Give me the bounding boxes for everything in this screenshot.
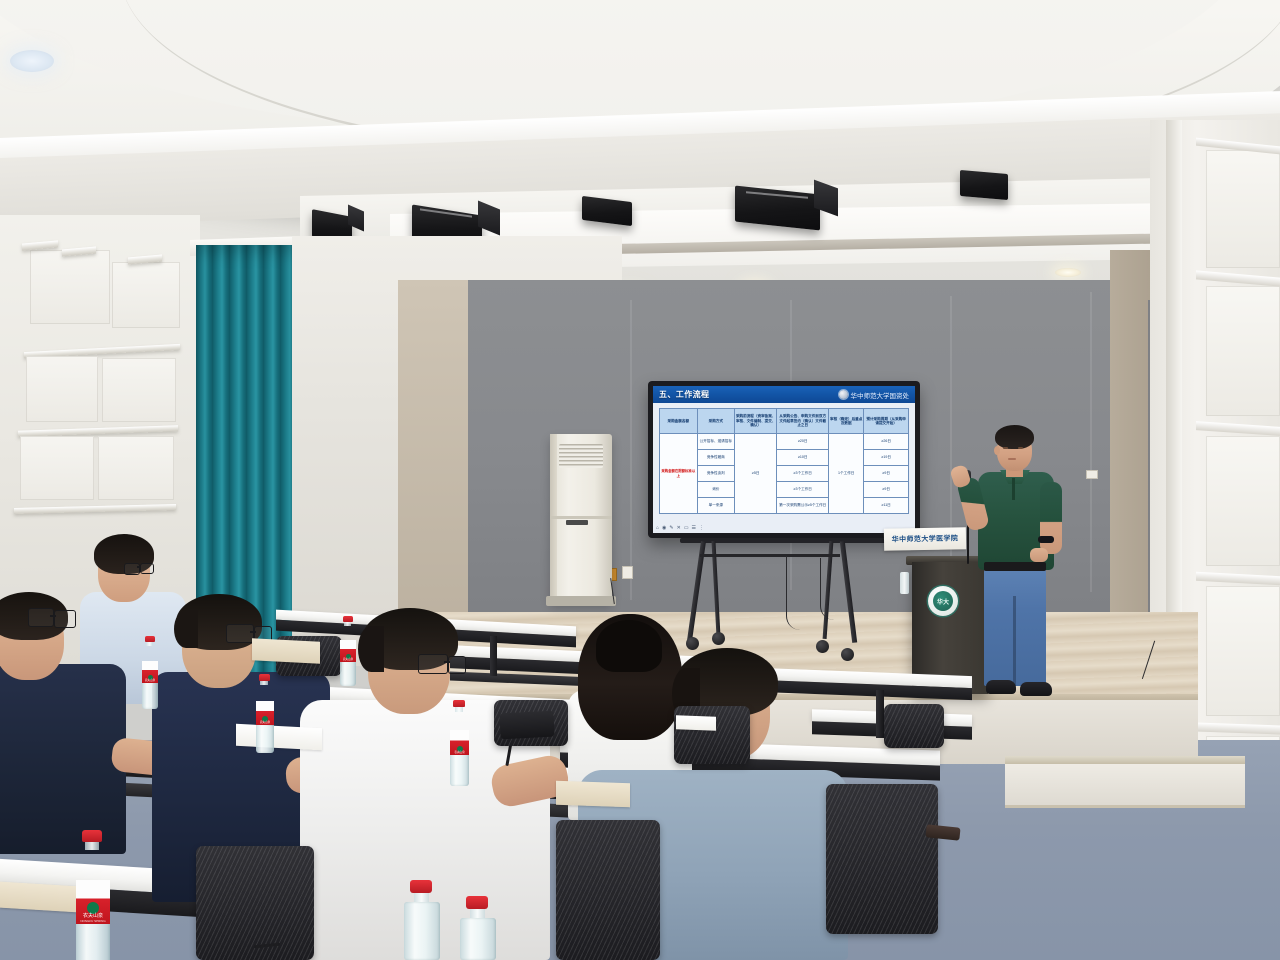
paper-sheet — [676, 715, 716, 730]
bottle-neck — [260, 681, 268, 685]
bottle-neck — [414, 893, 429, 902]
th-amount: 采购金额各额 — [660, 409, 698, 434]
glasses-bridge — [50, 615, 56, 617]
cell-span: ≥3个工作日 — [777, 466, 829, 482]
water-bottle: 农夫山泉 — [340, 616, 356, 686]
slide-title: 五、工作流程 — [659, 389, 709, 400]
wall-seam — [1090, 292, 1092, 592]
th-prestep: 采购前流程（资审备案、审核、文件编制、提交、确认） — [735, 409, 777, 434]
meeting-room-photo: 五、工作流程 华中师范大学国资处 采购金额各额 采购方式 采购前流程（资审备案、… — [0, 0, 1280, 960]
cell-span: ≥10日 — [777, 450, 829, 466]
bottle-body: 农夫山泉 — [450, 730, 469, 786]
podium-water-bottle — [900, 572, 909, 594]
bottle-neck — [470, 909, 485, 918]
bottle-label: 农夫山泉 NONGFU SPRING — [76, 880, 110, 924]
emblem-text: 华大 — [933, 591, 953, 611]
table-row: 竞争性谈判 ≥3个工作日 ≥9日 — [660, 466, 909, 482]
podium-sign: 华中师范大学医学院 — [884, 527, 966, 550]
bottle-body: 农夫山泉 NONGFU SPRING — [76, 880, 110, 960]
desk-leg — [876, 690, 884, 738]
wall-panel — [1206, 150, 1280, 268]
bottle-cap — [82, 830, 102, 842]
glasses-bridge — [444, 661, 450, 663]
slide-brand-text: 华中师范大学国资处 — [851, 390, 910, 400]
display-stand-brace — [700, 554, 840, 557]
display-stand-caster — [686, 637, 699, 650]
glasses-bridge — [137, 566, 141, 568]
wall-panel — [30, 250, 110, 324]
bottle-body: 农夫山泉 — [142, 661, 158, 709]
slide-body: 采购金额各额 采购方式 采购前流程（资审备案、审核、文件编制、提交、确认） 从采… — [653, 403, 915, 514]
presenter-placket — [1012, 478, 1015, 500]
bag — [499, 711, 554, 740]
water-bottle — [460, 896, 496, 960]
table-row: 单一来源 第一次采购需公示≥5个工作日 ≥11日 — [660, 498, 909, 514]
power-outlet[interactable] — [622, 566, 633, 579]
presenter-shoe — [1020, 682, 1052, 696]
university-emblem-icon: 华大 — [928, 586, 958, 616]
bottle-brand-text: 农夫山泉 — [145, 680, 155, 683]
chair[interactable] — [826, 784, 938, 934]
menu-icon[interactable]: ☰ — [692, 526, 696, 531]
presenter-right-arm — [1040, 482, 1062, 554]
wall-panel — [20, 436, 94, 500]
stage-step-nosing — [1005, 756, 1245, 764]
air-conditioner-base — [546, 596, 616, 606]
display-cable — [786, 556, 807, 630]
glasses-icon — [28, 608, 54, 627]
cell-span: ≥20日 — [777, 434, 829, 450]
keyboard-icon[interactable]: ▭ — [684, 526, 689, 531]
air-conditioner-seam — [550, 516, 612, 519]
table-row: 竞争性磋商 ≥10日 ≥19日 — [660, 450, 909, 466]
bottle-body: 农夫山泉 — [256, 701, 274, 753]
whiteboard-screen[interactable]: 五、工作流程 华中师范大学国资处 采购金额各额 采购方式 采购前流程（资审备案、… — [653, 386, 915, 533]
cell-method: 竞争性磋商 — [697, 450, 735, 466]
presenter-hair — [995, 425, 1034, 449]
wristwatch-icon — [1038, 536, 1054, 543]
glasses-icon — [124, 563, 140, 575]
red-threshold-note: 采购金额在限额标准以上 — [661, 469, 695, 477]
cell-audit: 1个工作日 — [829, 434, 864, 514]
display-stand-caster — [841, 648, 854, 661]
glasses-icon — [226, 624, 254, 643]
glasses-icon — [448, 656, 466, 674]
back-icon[interactable]: ◉ — [662, 526, 666, 531]
presenter-shoe — [986, 680, 1016, 694]
glasses-icon — [418, 654, 448, 674]
cell-span: ≥3个工作日 — [777, 482, 829, 498]
ceiling-speaker-icon — [960, 170, 1008, 200]
chair[interactable] — [884, 704, 944, 748]
th-audit: 审核（确定）后重点及数据 — [829, 409, 864, 434]
wall-panel — [98, 436, 174, 500]
bottle-body — [460, 918, 496, 960]
presenter-belt — [984, 562, 1046, 571]
attendee-hair-crown — [596, 620, 662, 672]
chair[interactable] — [556, 820, 660, 960]
presenter-eye — [1003, 447, 1008, 449]
th-method: 采购方式 — [697, 409, 735, 434]
bottle-neck — [146, 642, 153, 646]
bottle-cap — [453, 700, 465, 707]
th-total: 预计采购周期（从采购申请提交开始） — [864, 409, 909, 434]
stage-step — [1005, 762, 1245, 808]
notebook — [0, 882, 78, 913]
bottle-body — [404, 902, 440, 960]
table-row: 询价 ≥3个工作日 ≥9日 — [660, 482, 909, 498]
bottle-label: 农夫山泉 — [142, 661, 158, 683]
home-icon[interactable]: ⌂ — [656, 526, 659, 531]
table-header-row: 采购金额各额 采购方式 采购前流程（资审备案、审核、文件编制、提交、确认） 从采… — [660, 409, 909, 434]
presenter-leg-split — [1013, 596, 1016, 686]
slide-header: 五、工作流程 华中师范大学国资处 — [653, 386, 915, 403]
bottle-brand-text: 农夫山泉 — [454, 752, 464, 755]
glasses-bridge — [250, 631, 256, 633]
wall-panel — [1206, 436, 1280, 566]
paper-sheet — [236, 724, 322, 751]
workflow-table: 采购金额各额 采购方式 采购前流程（资审备案、审核、文件编制、提交、确认） 从采… — [659, 408, 909, 514]
podium-sign-text: 华中师范大学医学院 — [892, 533, 959, 544]
attendee-hair-side — [358, 626, 384, 672]
presenter-mouth — [1008, 458, 1016, 460]
th-span: 从采购公告、申购文件到双方文件起草签约（确认）文件截止之日 — [777, 409, 829, 434]
cell-span: 第一次采购需公示≥5个工作日 — [777, 498, 829, 514]
attendee-hair-side — [174, 610, 198, 648]
cell-total: ≥9日 — [864, 466, 909, 482]
bottle-cap — [259, 674, 270, 681]
wall-panel — [102, 358, 176, 422]
bottle-neck — [455, 707, 463, 712]
wall-seam — [630, 300, 632, 600]
wall-panel — [1206, 586, 1280, 716]
downlight-icon — [1055, 268, 1081, 277]
water-bottle: 农夫山泉 — [450, 700, 469, 786]
display-cable — [820, 558, 835, 620]
bottle-neck — [85, 842, 99, 850]
cell-method: 询价 — [697, 482, 735, 498]
cell-total: ≥26日 — [864, 434, 909, 450]
glasses-icon — [54, 610, 76, 628]
pen-icon[interactable]: ✎ — [669, 526, 673, 531]
cell-total: ≥19日 — [864, 450, 909, 466]
cell-total: ≥11日 — [864, 498, 909, 514]
presenter-ear — [994, 446, 1000, 455]
bottle-neck — [344, 622, 351, 626]
slide-brand: 华中师范大学国资处 — [839, 390, 910, 400]
whiteboard-toolbar[interactable]: ⌂ ◉ ✎ ✕ ▭ ☰ ⋮ — [656, 526, 704, 531]
cell-method: 公开招标、邀请招标 — [697, 434, 735, 450]
wall-panel — [1206, 286, 1280, 416]
wall-panel — [26, 356, 98, 422]
bottle-sub-text: NONGFU SPRING — [80, 920, 105, 924]
glasses-icon — [140, 563, 154, 574]
bottle-label: 农夫山泉 — [450, 730, 469, 755]
air-conditioner-vent-icon — [559, 444, 603, 468]
bottle-body: 农夫山泉 — [340, 640, 356, 686]
recessed-light-icon — [10, 50, 54, 72]
bottle-cap — [466, 896, 488, 909]
chair[interactable] — [196, 846, 314, 960]
water-bottle — [404, 880, 440, 960]
university-logo-icon — [839, 390, 848, 399]
table-row: 采购金额在限额标准以上 公开招标、邀请招标 ≥5日 ≥20日 1个工作日 ≥26… — [660, 434, 909, 450]
notebook — [556, 781, 630, 808]
attendee-body — [0, 664, 126, 854]
water-bottle: 农夫山泉 — [256, 674, 274, 753]
water-bottle: 农夫山泉 NONGFU SPRING — [76, 830, 110, 960]
cell-pre: ≥5日 — [735, 434, 777, 514]
cell-method: 竞争性谈判 — [697, 466, 735, 482]
bottle-brand-text: 农夫山泉 — [260, 722, 270, 725]
presenter-eye — [1018, 447, 1023, 449]
close-icon[interactable]: ✕ — [677, 526, 681, 531]
wall-panel — [112, 262, 180, 328]
cell-total: ≥9日 — [864, 482, 909, 498]
power-outlet[interactable] — [1086, 470, 1098, 479]
notebook — [252, 638, 320, 664]
display-stand-caster — [712, 632, 725, 645]
desk-leg — [490, 636, 497, 676]
bottle-brand-text: 农夫山泉 — [343, 659, 353, 662]
bottle-cap — [410, 880, 432, 893]
interactive-whiteboard[interactable]: 五、工作流程 华中师范大学国资处 采购金额各额 采购方式 采购前流程（资审备案、… — [648, 381, 920, 538]
display-stand-caster — [816, 640, 829, 653]
bottle-label: 农夫山泉 — [340, 640, 356, 662]
presenter-resting-hand — [1030, 548, 1048, 562]
bottle-label: 农夫山泉 — [256, 701, 274, 725]
more-icon[interactable]: ⋮ — [699, 526, 704, 531]
cell-method: 单一来源 — [697, 498, 735, 514]
water-bottle: 农夫山泉 — [142, 636, 158, 709]
air-conditioner-display[interactable] — [566, 520, 588, 525]
